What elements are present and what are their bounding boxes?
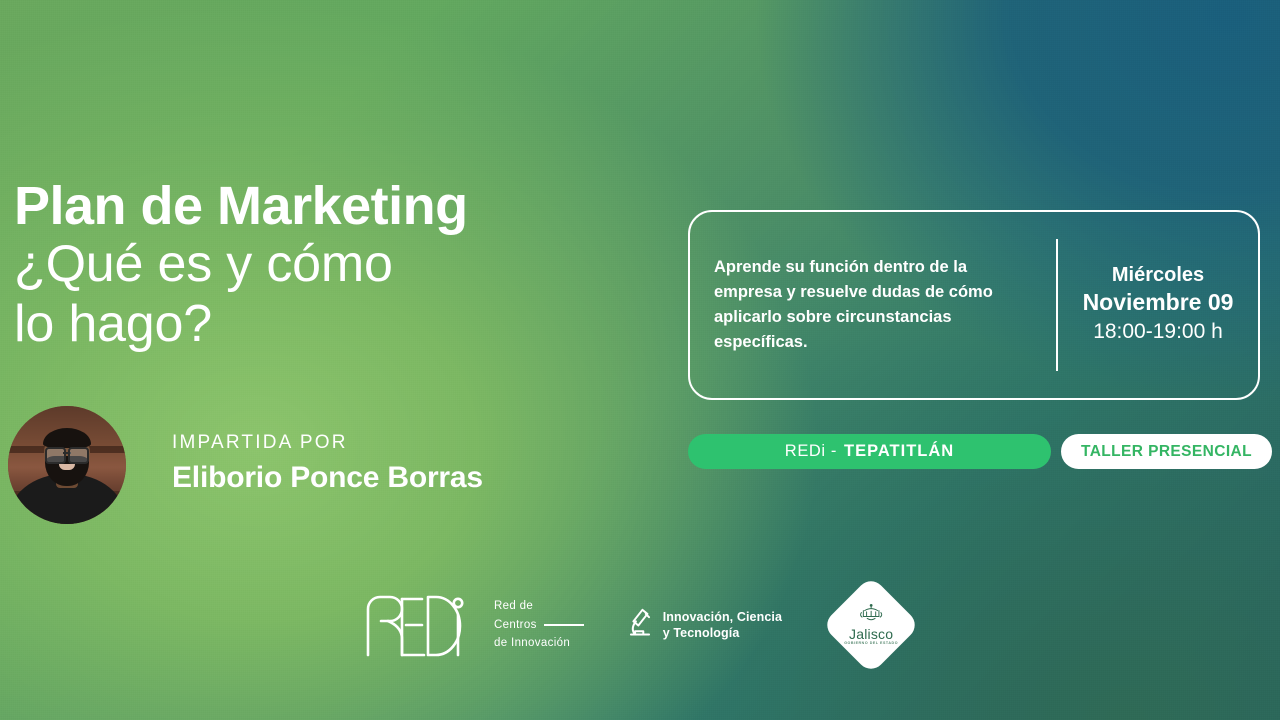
ict-line-2: y Tecnología xyxy=(663,626,740,640)
speaker-name: Eliborio Ponce Borras xyxy=(172,461,483,495)
schedule-day: Miércoles xyxy=(1112,262,1204,289)
jalisco-inner: Jalisco GOBIERNO DEL ESTADO xyxy=(836,604,906,646)
jalisco-name: Jalisco xyxy=(849,627,893,641)
headline-line-2: ¿Qué es y cómo xyxy=(14,235,694,294)
redi-logo: Red de Centros de Innovación xyxy=(362,589,584,661)
redi-tagline: Red de Centros de Innovación xyxy=(494,597,584,653)
speaker-pretitle: IMPARTIDA POR xyxy=(172,432,483,454)
schedule-date: Noviembre 09 xyxy=(1083,288,1234,318)
redi-tagline-line-2: Centros xyxy=(494,616,537,635)
jalisco-subtitle: GOBIERNO DEL ESTADO xyxy=(844,642,898,646)
badge-row: REDi - TEPATITLÁN TALLER PRESENCIAL xyxy=(688,434,1272,469)
crown-crest-icon xyxy=(858,604,884,626)
badge-modality[interactable]: TALLER PRESENCIAL xyxy=(1061,434,1272,469)
headline-line-1: Plan de Marketing xyxy=(14,178,694,235)
headline-line-3: lo hago? xyxy=(14,295,694,354)
ict-logo: Innovación, Ciencia y Tecnología xyxy=(626,606,782,645)
footer-logos: Red de Centros de Innovación Inno xyxy=(0,570,1280,680)
badge-location[interactable]: REDi - TEPATITLÁN xyxy=(688,434,1051,469)
speaker-block: IMPARTIDA POR Eliborio Ponce Borras xyxy=(8,406,483,524)
jalisco-logo: Jalisco GOBIERNO DEL ESTADO xyxy=(824,578,918,672)
info-card: Aprende su función dentro de la empresa … xyxy=(688,210,1260,400)
jalisco-diamond: Jalisco GOBIERNO DEL ESTADO xyxy=(822,576,921,675)
avatar xyxy=(8,406,126,524)
badge-location-brand: REDi - xyxy=(785,442,837,461)
redi-monogram-icon xyxy=(362,589,480,661)
speaker-text: IMPARTIDA POR Eliborio Ponce Borras xyxy=(172,432,483,499)
microscope-icon xyxy=(626,606,654,645)
card-description-area: Aprende su función dentro de la empresa … xyxy=(690,212,1056,398)
ict-text: Innovación, Ciencia y Tecnología xyxy=(663,609,782,642)
event-poster: Plan de Marketing ¿Qué es y cómo lo hago… xyxy=(0,0,1280,720)
schedule-time: 18:00-19:00 h xyxy=(1093,318,1223,346)
glasses-icon xyxy=(45,447,89,460)
badge-location-city: TEPATITLÁN xyxy=(844,442,954,461)
redi-tagline-line-1: Red de xyxy=(494,600,533,612)
redi-tagline-line-3: de Innovación xyxy=(494,637,570,649)
ict-line-1: Innovación, Ciencia xyxy=(663,610,782,624)
headline-block: Plan de Marketing ¿Qué es y cómo lo hago… xyxy=(14,178,694,354)
glasses-lens-right xyxy=(68,447,89,464)
card-schedule: Miércoles Noviembre 09 18:00-19:00 h xyxy=(1058,212,1258,398)
redi-tagline-rule xyxy=(544,624,584,625)
card-description: Aprende su función dentro de la empresa … xyxy=(714,255,1036,355)
glasses-lens-left xyxy=(45,447,66,464)
